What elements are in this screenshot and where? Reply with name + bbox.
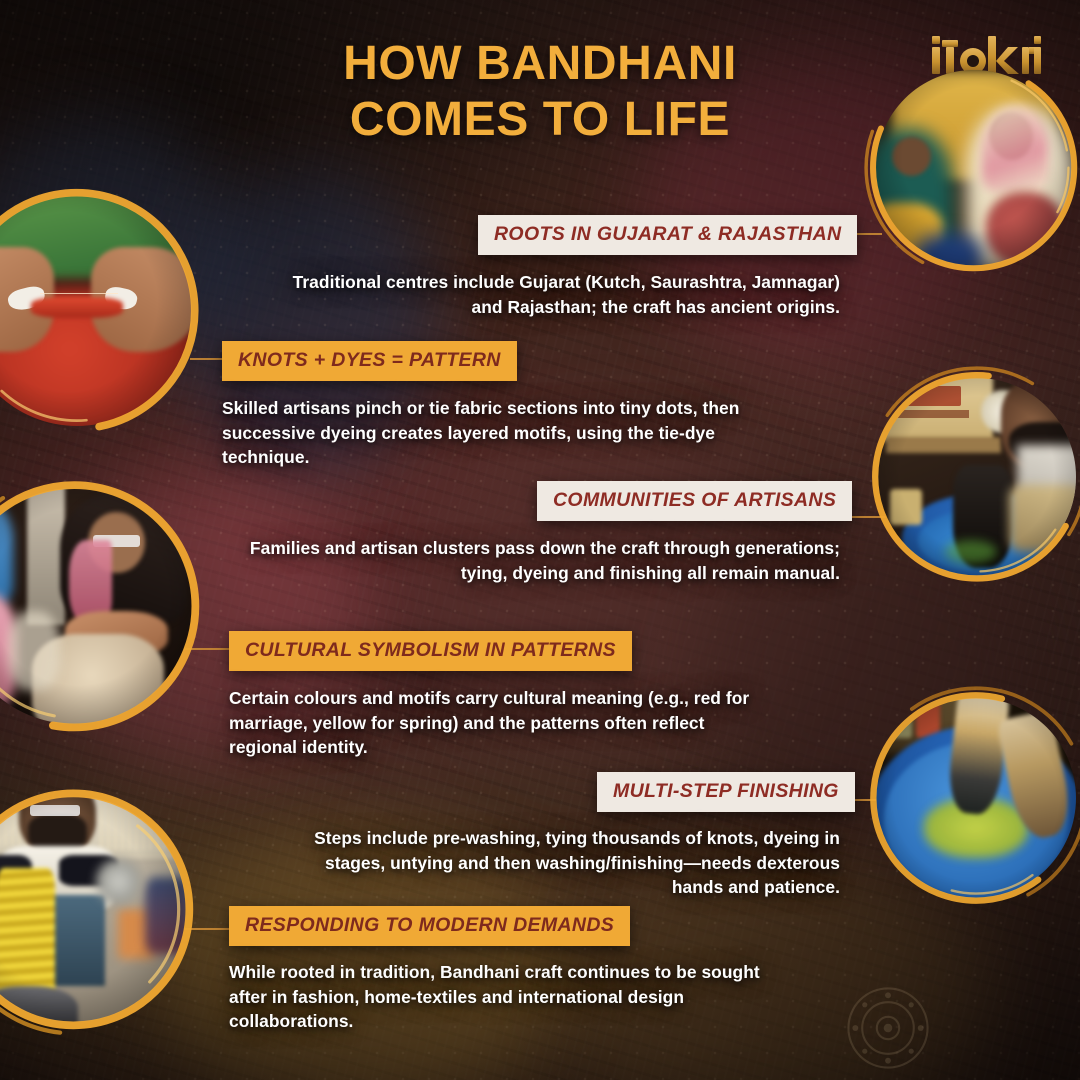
section-body-knots-dyes-pattern: Skilled artisans pinch or tie fabric sec…: [222, 396, 742, 470]
gold-brush-ring-icon: [858, 680, 1080, 916]
gold-brush-ring-icon: [0, 776, 206, 1043]
section-label-roots-in-gujarat-rajasthan[interactable]: ROOTS IN GUJARAT & RAJASTHAN: [478, 215, 857, 255]
section-label-knots-dyes-pattern[interactable]: KNOTS + DYES = PATTERN: [222, 341, 517, 381]
section-body-responding-to-modern-demands: While rooted in tradition, Bandhani craf…: [229, 960, 789, 1034]
photo-indigo-dye-vat-with-yellow-cloth[interactable]: [876, 698, 1076, 898]
gold-brush-ring-icon: [860, 360, 1080, 594]
photo-artisan-lifting-yellow-dyed-cloth[interactable]: [0, 796, 186, 1022]
section-label-multi-step-finishing[interactable]: MULTI-STEP FINISHING: [597, 772, 855, 812]
section-label-responding-to-modern-demands[interactable]: RESPONDING TO MODERN DEMANDS: [229, 906, 630, 946]
section-body-cultural-symbolism-in-patterns: Certain colours and motifs carry cultura…: [229, 686, 769, 760]
gold-brush-ring-icon: [858, 52, 1080, 283]
section-body-communities-of-artisans: Families and artisan clusters pass down …: [245, 536, 840, 585]
photo-two-women-tying-bandhani[interactable]: [876, 70, 1072, 266]
section-body-roots-in-gujarat-rajasthan: Traditional centres include Gujarat (Kut…: [275, 270, 840, 319]
photo-hands-tying-red-fabric[interactable]: [0, 196, 192, 426]
section-label-cultural-symbolism-in-patterns[interactable]: CULTURAL SYMBOLISM IN PATTERNS: [229, 631, 632, 671]
gold-brush-ring-icon: [0, 175, 213, 446]
photo-woman-tying-knots-in-courtyard[interactable]: [0, 488, 192, 724]
photo-dyer-dipping-cloth-in-blue-vat[interactable]: [878, 378, 1076, 576]
section-label-communities-of-artisans[interactable]: COMMUNITIES OF ARTISANS: [537, 481, 852, 521]
section-body-multi-step-finishing: Steps include pre-washing, tying thousan…: [300, 826, 840, 900]
gold-brush-ring-icon: [0, 467, 213, 745]
